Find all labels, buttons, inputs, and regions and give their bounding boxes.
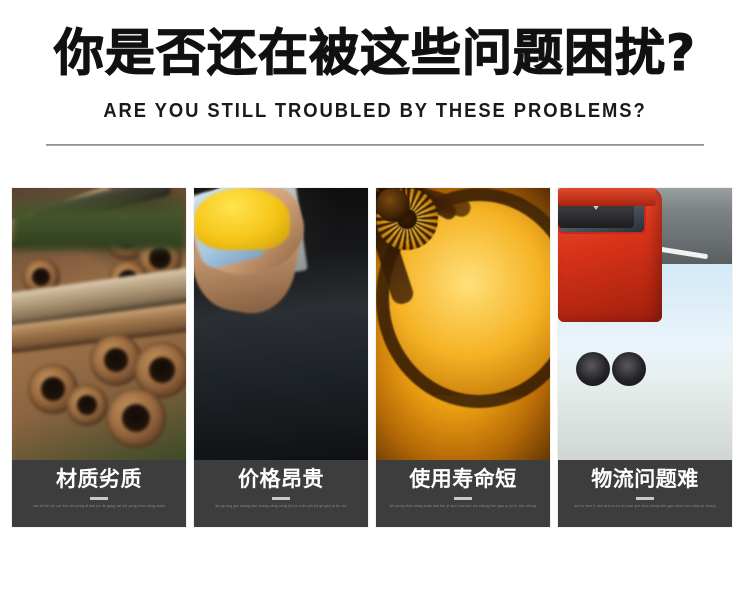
banner-header: 你是否还在被这些问题困扰? ARE YOU STILL TROUBLED BY … xyxy=(0,0,750,160)
card-payment-image xyxy=(194,188,368,460)
caption-dash xyxy=(272,497,290,500)
card-subtext: shi yong shou ming duan she bei yi sun h… xyxy=(388,504,538,509)
card-subtext: wu liu wen ti nan fa huo su du man yun s… xyxy=(570,504,720,509)
problem-card[interactable]: 材质劣质 cai zhi lie zhi cai liao shi yong d… xyxy=(12,188,186,527)
card-title: 材质劣质 xyxy=(56,467,142,492)
card-caption: 材质劣质 cai zhi lie zhi cai liao shi yong d… xyxy=(12,460,186,527)
caption-dash xyxy=(90,497,108,500)
page-subtitle: ARE YOU STILL TROUBLED BY THESE PROBLEMS… xyxy=(30,98,720,124)
promo-banner: 你是否还在被这些问题困扰? ARE YOU STILL TROUBLED BY … xyxy=(0,0,750,609)
problem-card-list: 材质劣质 cai zhi lie zhi cai liao shi yong d… xyxy=(12,188,738,527)
delivery-truck-image xyxy=(558,188,732,460)
card-title: 物流问题难 xyxy=(591,467,699,492)
card-subtext: jia ge ang gui zhong jian shang ceng cen… xyxy=(206,504,356,509)
caption-dash xyxy=(454,497,472,500)
card-subtext: cai zhi lie zhi cai liao shi yong di lia… xyxy=(24,504,174,509)
problem-card[interactable]: 使用寿命短 shi yong shou ming duan she bei yi… xyxy=(376,188,550,527)
rusty-pipes-image xyxy=(12,188,186,460)
card-caption: 物流问题难 wu liu wen ti nan fa huo su du man… xyxy=(558,460,732,527)
problem-card[interactable]: 物流问题难 wu liu wen ti nan fa huo su du man… xyxy=(558,188,732,527)
card-caption: 使用寿命短 shi yong shou ming duan she bei yi… xyxy=(376,460,550,527)
header-divider xyxy=(46,144,704,146)
antique-clock-image xyxy=(376,188,550,460)
problem-card[interactable]: 价格昂贵 jia ge ang gui zhong jian shang cen… xyxy=(194,188,368,527)
page-title: 你是否还在被这些问题困扰? xyxy=(0,24,750,82)
card-caption: 价格昂贵 jia ge ang gui zhong jian shang cen… xyxy=(194,460,368,527)
card-title: 价格昂贵 xyxy=(238,467,324,492)
caption-dash xyxy=(636,497,654,500)
card-title: 使用寿命短 xyxy=(409,467,517,492)
